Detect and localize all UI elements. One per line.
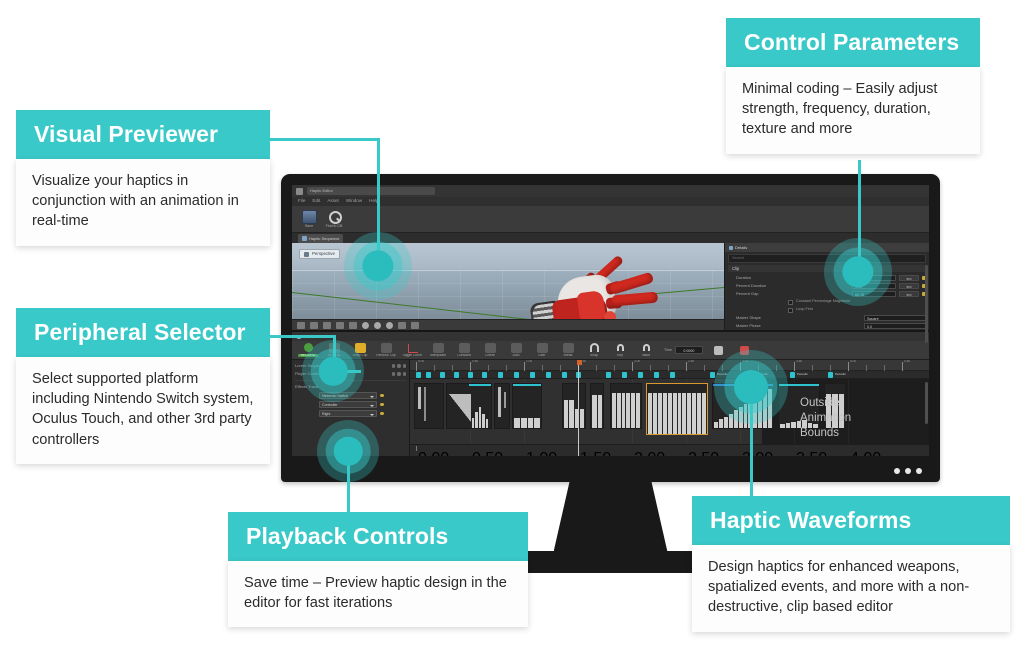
callout-haptic-waveforms: Haptic Waveforms Design haptics for enha… xyxy=(692,496,1010,632)
app-menubar[interactable]: File Edit Asset Window Help xyxy=(292,197,929,206)
bottom-ruler-label: 1.00 xyxy=(526,450,557,456)
keyframe-row[interactable]: Periodic Periodic Periodic Periodic xyxy=(410,371,929,379)
track-row-controls[interactable] xyxy=(392,364,407,368)
bottom-ruler-label: 0.50 xyxy=(472,450,503,456)
app-toolbar: Save Find in CB xyxy=(292,206,929,233)
timeline-ruler[interactable]: 0.00 0.50 1.00 1.50 2.00 2.50 xyxy=(410,360,929,371)
waveform-clip[interactable] xyxy=(590,383,604,429)
asset-tab-label: Haptic Sequence xyxy=(309,237,339,241)
timeline-scrollbar[interactable] xyxy=(925,382,928,424)
time-field-label: Time xyxy=(664,348,672,352)
monitor-stand-neck xyxy=(554,482,668,552)
details-select-master-shape[interactable]: Square xyxy=(864,315,926,322)
sequencer-tabbar[interactable]: Curves xyxy=(292,332,929,341)
settings-icon[interactable] xyxy=(411,322,419,329)
bottom-ruler-label: 2.00 xyxy=(634,450,665,456)
infographic-stage: Haptic Editor File Edit Asset Window Hel… xyxy=(0,0,1024,657)
app-titlebar: Haptic Editor xyxy=(292,185,929,197)
constant-button[interactable]: Constant xyxy=(454,343,474,357)
callout-body-text: Select supported platform including Nint… xyxy=(32,369,254,450)
save-button[interactable]: Save xyxy=(298,210,320,229)
keyframe-label: Periodic xyxy=(797,373,808,376)
peripheral-select-side[interactable]: Right xyxy=(319,410,377,417)
clip-cap xyxy=(513,384,541,386)
waveform-clip[interactable] xyxy=(610,383,642,429)
waveform-clip[interactable] xyxy=(512,383,542,429)
interpolate-icon xyxy=(428,343,448,353)
bottom-ruler-label: 3.00 xyxy=(742,450,773,456)
magnet-value-icon xyxy=(636,343,656,353)
break-label: Break xyxy=(558,354,578,357)
details-row-master-phase[interactable]: Master Phase 0.0 xyxy=(728,322,926,330)
auto-label: Auto xyxy=(506,354,526,357)
checkbox-icon[interactable] xyxy=(788,308,793,313)
connector-peripheral-selector xyxy=(270,335,336,338)
outside-bounds-line-3: Bounds xyxy=(800,426,851,441)
callout-title: Visual Previewer xyxy=(16,110,270,159)
peripheral-select-row-side[interactable]: Right xyxy=(295,409,406,418)
break-icon xyxy=(558,343,578,353)
callout-body-text: Design haptics for enhanced weapons, spa… xyxy=(708,557,994,617)
user-icon xyxy=(532,343,552,353)
playhead[interactable] xyxy=(578,360,579,456)
callout-control-parameters: Control Parameters Minimal coding – Easi… xyxy=(726,18,980,154)
peripheral-status-dot xyxy=(380,394,384,398)
bottom-ruler-label: 2.50 xyxy=(688,450,719,456)
peripheral-status-dot xyxy=(380,403,384,407)
rotate-icon[interactable] xyxy=(310,322,318,329)
constant-icon xyxy=(454,343,474,353)
bottom-ruler-label: 4.00 xyxy=(850,450,881,456)
marker-playback-controls[interactable] xyxy=(317,420,379,482)
callout-body: Select supported platform including Nint… xyxy=(16,357,270,464)
details-unit-percent-duration: sec xyxy=(899,283,919,290)
bottom-ruler-label: 3.50 xyxy=(796,450,827,456)
menu-item-asset[interactable]: Asset xyxy=(327,199,339,204)
connector-visual-previewer xyxy=(270,138,380,141)
auto-button[interactable]: Auto xyxy=(506,343,526,357)
magnet-value-button[interactable]: Value xyxy=(636,343,656,357)
window-title: Haptic Editor xyxy=(307,187,435,195)
save-button-label: Save xyxy=(298,225,320,229)
details-row-master-shape[interactable]: Master Shape Square xyxy=(728,314,926,322)
app-logo-icon xyxy=(296,188,303,195)
find-button-label: Find in CB xyxy=(323,225,345,229)
bottom-ruler-label: 1.50 xyxy=(580,450,611,456)
callout-title: Haptic Waveforms xyxy=(692,496,1010,545)
magnet-key-button[interactable]: Key xyxy=(610,343,630,357)
window-title-text: Haptic Editor xyxy=(310,189,333,193)
details-search-placeholder: Search xyxy=(732,257,744,261)
asset-icon xyxy=(302,236,307,241)
details-label-master-shape: Master Shape xyxy=(736,316,861,320)
callout-visual-previewer: Visual Previewer Visualize your haptics … xyxy=(16,110,270,246)
track-row-controls[interactable] xyxy=(392,372,407,376)
toggle-curve-icon xyxy=(402,343,422,353)
ruler-label: 4.50 xyxy=(904,360,910,363)
outside-bounds-line-2: Animation xyxy=(800,411,851,426)
marker-peripheral-selector[interactable] xyxy=(302,340,364,402)
details-checkbox-label: Loop First xyxy=(796,308,813,312)
linear-label: Linear xyxy=(480,354,500,357)
magnet-key-icon xyxy=(610,343,630,353)
ruler-label: 1.00 xyxy=(526,360,532,363)
monitor-stand-base xyxy=(507,551,715,573)
grid-icon[interactable] xyxy=(349,322,357,329)
camera-speed-icon[interactable] xyxy=(362,322,369,329)
timeline-bottom-ruler[interactable]: 0.00 0.50 1.00 1.50 2.00 2.50 3.00 3.50 … xyxy=(410,444,929,456)
ruler-label: 2.50 xyxy=(688,360,694,363)
tab-haptic-sequence[interactable]: Haptic Sequence xyxy=(298,234,343,243)
time-field[interactable]: 0.0000 xyxy=(675,346,703,354)
ruler-label: 2.00 xyxy=(634,360,640,363)
gizmo-icon[interactable] xyxy=(398,322,406,329)
details-unit-percent-gap: sec xyxy=(899,291,919,298)
callout-peripheral-selector: Peripheral Selector Select supported pla… xyxy=(16,308,270,464)
interpolate-label: Interpolate xyxy=(428,354,448,357)
waveform-clip-selected[interactable] xyxy=(646,383,708,435)
transform-icon[interactable] xyxy=(297,322,305,329)
sequencer-toolbar: RECORD Add Clip Snap Clip Remove Cl xyxy=(292,341,929,360)
clip-cap xyxy=(469,384,491,386)
details-scrollbar[interactable] xyxy=(925,265,928,343)
break-button[interactable]: Break xyxy=(558,343,578,357)
magnet-value-label: Value xyxy=(636,354,656,357)
details-label-master-phase: Master Phase xyxy=(736,324,861,328)
scale-icon[interactable] xyxy=(323,322,331,329)
magnify-icon xyxy=(327,210,342,224)
save-icon xyxy=(302,210,317,224)
marker-control-parameters[interactable] xyxy=(824,238,892,306)
bottom-ruler-label: 0.00 xyxy=(418,450,449,456)
timeline-track-area[interactable]: 0.00 0.50 1.00 1.50 2.00 2.50 xyxy=(410,360,929,456)
lighting-icon[interactable] xyxy=(374,322,381,329)
user-button[interactable]: User xyxy=(532,343,552,357)
linear-icon xyxy=(480,343,500,353)
marker-visual-previewer[interactable] xyxy=(344,232,412,300)
viewport-mode-badge[interactable]: Perspective xyxy=(299,249,340,259)
magnet-key-label: Key xyxy=(610,354,630,357)
waveform-clip[interactable] xyxy=(446,383,492,429)
callout-title: Peripheral Selector xyxy=(16,308,270,357)
user-label: User xyxy=(532,354,552,357)
show-flags-icon[interactable] xyxy=(386,322,393,329)
linear-button[interactable]: Linear xyxy=(480,343,500,357)
keyframe-label: Periodic xyxy=(835,373,846,376)
waveform-clip[interactable] xyxy=(562,383,586,429)
peripheral-status-dot xyxy=(380,412,384,416)
auto-icon xyxy=(506,343,526,353)
constant-label: Constant xyxy=(454,354,474,357)
waveform-clip[interactable] xyxy=(414,383,444,429)
toggle-curve-label: Toggle Curve xyxy=(402,354,422,357)
menu-item-window[interactable]: Window xyxy=(346,199,362,204)
ruler-label: 0.00 xyxy=(418,360,424,363)
find-in-content-browser-button[interactable]: Find in CB xyxy=(323,210,345,229)
ruler-label: 0.50 xyxy=(472,360,478,363)
magnet-icon xyxy=(584,343,604,353)
ruler-label: 4.00 xyxy=(850,360,856,363)
viewport-mode-label: Perspective xyxy=(312,252,335,256)
monitor-screen: Haptic Editor File Edit Asset Window Hel… xyxy=(292,185,929,456)
monitor-indicator-dots xyxy=(894,468,922,474)
menu-item-edit[interactable]: Edit xyxy=(312,199,320,204)
menu-item-file[interactable]: File xyxy=(298,199,305,204)
remove-clip-button[interactable]: Remove Clip xyxy=(376,343,396,357)
marker-haptic-waveforms[interactable] xyxy=(714,350,788,424)
details-select-master-phase[interactable]: 0.0 xyxy=(864,323,926,330)
magnet-snap-label: Snap xyxy=(584,354,604,357)
remove-clip-icon xyxy=(376,343,396,353)
callout-playback-controls: Playback Controls Save time – Preview ha… xyxy=(228,512,528,627)
details-icon xyxy=(729,246,733,250)
magnet-snap-button[interactable]: Snap xyxy=(584,343,604,357)
callout-body: Visualize your haptics in conjunction wi… xyxy=(16,159,270,245)
checkbox-icon[interactable] xyxy=(788,300,793,305)
waveform-clip[interactable] xyxy=(494,383,510,429)
details-unit-duration: sec xyxy=(899,275,919,282)
callout-body: Minimal coding – Easily adjust strength,… xyxy=(726,67,980,153)
ruler-label: 3.50 xyxy=(796,360,802,363)
toggle-curve-button[interactable]: Toggle Curve xyxy=(402,343,422,357)
callout-body-text: Minimal coding – Easily adjust strength,… xyxy=(742,79,964,139)
callout-body: Save time – Preview haptic design in the… xyxy=(228,561,528,627)
outside-animation-bounds-label: Outside Animation Bounds xyxy=(800,396,851,442)
sequencer-main: Lorem Sequence Settings Player Controlle… xyxy=(292,360,929,456)
callout-body-text: Save time – Preview haptic design in the… xyxy=(244,573,512,613)
camera-icon xyxy=(304,252,309,257)
details-tab-label: Details xyxy=(735,246,747,250)
details-checkbox-loop-first[interactable]: Loop First xyxy=(728,306,926,314)
remove-clip-label: Remove Clip xyxy=(376,354,396,357)
playhead-knob[interactable] xyxy=(577,360,582,365)
snap-icon[interactable] xyxy=(336,322,344,329)
outside-bounds-line-1: Outside xyxy=(800,396,851,411)
callout-body-text: Visualize your haptics in conjunction wi… xyxy=(32,171,254,231)
sequencer-panel: Curves RECORD Add Clip Sn xyxy=(292,330,929,456)
viewport-toolbar xyxy=(292,319,724,330)
peripheral-select-device[interactable]: Controller xyxy=(319,401,377,408)
callout-title: Control Parameters xyxy=(726,18,980,67)
timeline-clips[interactable] xyxy=(410,379,929,444)
callout-body: Design haptics for enhanced weapons, spa… xyxy=(692,545,1010,631)
callout-title: Playback Controls xyxy=(228,512,528,561)
interpolate-button[interactable]: Interpolate xyxy=(428,343,448,357)
